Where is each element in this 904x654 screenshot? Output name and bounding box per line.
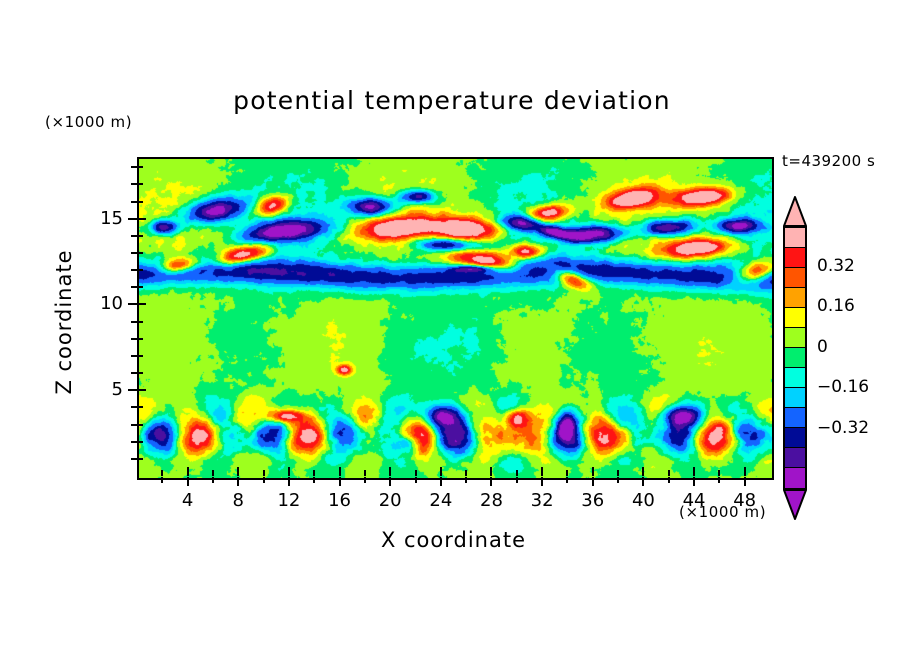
x-tick	[212, 477, 214, 483]
z-axis-unit-label: (×1000 m)	[45, 113, 132, 131]
colorbar-band	[785, 348, 805, 368]
colorbar-band	[785, 428, 805, 448]
y-tick	[137, 218, 146, 220]
x-tick	[313, 470, 315, 476]
colorbar-tick-label: 0	[817, 337, 828, 357]
y-tick	[137, 406, 143, 408]
colorbar-bands	[783, 226, 807, 490]
x-tick	[490, 477, 492, 486]
x-tick	[617, 470, 619, 476]
y-tick	[128, 218, 137, 220]
x-tick	[617, 477, 619, 483]
x-tick	[389, 467, 391, 476]
y-tick	[128, 303, 137, 305]
colorbar-band	[785, 368, 805, 388]
colorbar-tick-label: 0.32	[817, 256, 855, 276]
page-title: potential temperature deviation	[0, 86, 904, 115]
x-tick	[339, 467, 341, 476]
x-tick	[718, 470, 720, 476]
x-tick	[516, 477, 518, 483]
x-tick	[744, 477, 746, 486]
plot-area	[137, 157, 774, 480]
y-tick	[137, 355, 143, 357]
x-tick	[718, 477, 720, 483]
x-tick-label: 4	[163, 490, 213, 511]
x-tick	[389, 477, 391, 486]
x-tick	[440, 467, 442, 476]
y-tick	[137, 166, 143, 168]
x-tick	[339, 477, 341, 486]
colorbar-band	[785, 288, 805, 308]
x-tick	[592, 467, 594, 476]
colorbar-arrow-bottom-icon	[783, 489, 807, 520]
x-tick-label: 32	[517, 490, 567, 511]
x-tick	[490, 467, 492, 476]
colorbar-band	[785, 468, 805, 488]
x-tick	[642, 467, 644, 476]
colorbar-tick-label: 0.16	[817, 296, 855, 316]
x-tick	[516, 470, 518, 476]
x-tick-label: 12	[264, 490, 314, 511]
y-tick	[137, 269, 143, 271]
x-tick-label: 40	[618, 490, 668, 511]
colorbar: 0.320.160−0.16−0.32	[783, 196, 807, 518]
x-tick	[187, 467, 189, 476]
x-tick	[364, 477, 366, 483]
y-tick	[137, 286, 143, 288]
x-tick	[693, 477, 695, 486]
y-tick	[137, 338, 143, 340]
x-tick	[566, 470, 568, 476]
contour-plot-figure: potential temperature deviation (×1000 m…	[0, 0, 904, 654]
y-tick-label: 5	[83, 379, 123, 400]
x-tick	[744, 467, 746, 476]
x-tick	[288, 467, 290, 476]
x-tick	[237, 467, 239, 476]
x-tick	[415, 470, 417, 476]
y-tick	[128, 389, 137, 391]
y-tick	[137, 235, 143, 237]
x-tick	[313, 477, 315, 483]
x-tick-label: 20	[365, 490, 415, 511]
x-tick	[541, 477, 543, 486]
x-tick-label: 8	[213, 490, 263, 511]
colorbar-tick-label: −0.32	[817, 418, 869, 438]
colorbar-band	[785, 248, 805, 268]
x-tick	[668, 470, 670, 476]
x-tick	[237, 477, 239, 486]
colorbar-arrow-top-icon	[783, 196, 807, 227]
x-tick	[465, 470, 467, 476]
x-tick	[263, 470, 265, 476]
x-tick-label: 36	[568, 490, 618, 511]
x-tick	[440, 477, 442, 486]
x-tick	[415, 477, 417, 483]
colorbar-band	[785, 388, 805, 408]
y-tick	[137, 458, 143, 460]
x-tick	[187, 477, 189, 486]
x-tick	[566, 477, 568, 483]
colorbar-band	[785, 268, 805, 288]
colorbar-band	[785, 448, 805, 468]
x-tick-label: 28	[466, 490, 516, 511]
x-tick	[161, 477, 163, 483]
y-tick	[137, 303, 146, 305]
y-tick	[137, 201, 143, 203]
y-tick	[137, 441, 143, 443]
contour-field	[139, 159, 772, 478]
time-annotation: t=439200 s	[782, 152, 875, 170]
x-tick	[541, 467, 543, 476]
colorbar-band	[785, 328, 805, 348]
y-tick-label: 15	[83, 208, 123, 229]
x-tick-label: 48	[720, 490, 770, 511]
colorbar-band	[785, 308, 805, 328]
x-tick-label: 44	[669, 490, 719, 511]
x-tick	[263, 477, 265, 483]
y-tick	[137, 321, 143, 323]
x-tick-label: 16	[315, 490, 365, 511]
x-tick	[212, 470, 214, 476]
y-tick	[137, 424, 143, 426]
x-tick	[364, 470, 366, 476]
x-tick	[592, 477, 594, 486]
x-tick-label: 24	[416, 490, 466, 511]
x-tick	[465, 477, 467, 483]
x-tick	[642, 477, 644, 486]
colorbar-tick-label: −0.16	[817, 377, 869, 397]
x-tick	[161, 470, 163, 476]
colorbar-band	[785, 228, 805, 248]
x-tick	[693, 467, 695, 476]
x-axis-title: X coordinate	[137, 528, 770, 552]
y-tick	[137, 183, 143, 185]
y-tick	[137, 372, 143, 374]
y-axis-title: Z coordinate	[52, 232, 76, 412]
x-tick	[668, 477, 670, 483]
y-tick-label: 10	[83, 293, 123, 314]
x-tick	[288, 477, 290, 486]
y-tick	[137, 252, 143, 254]
colorbar-band	[785, 408, 805, 428]
y-tick	[137, 389, 146, 391]
